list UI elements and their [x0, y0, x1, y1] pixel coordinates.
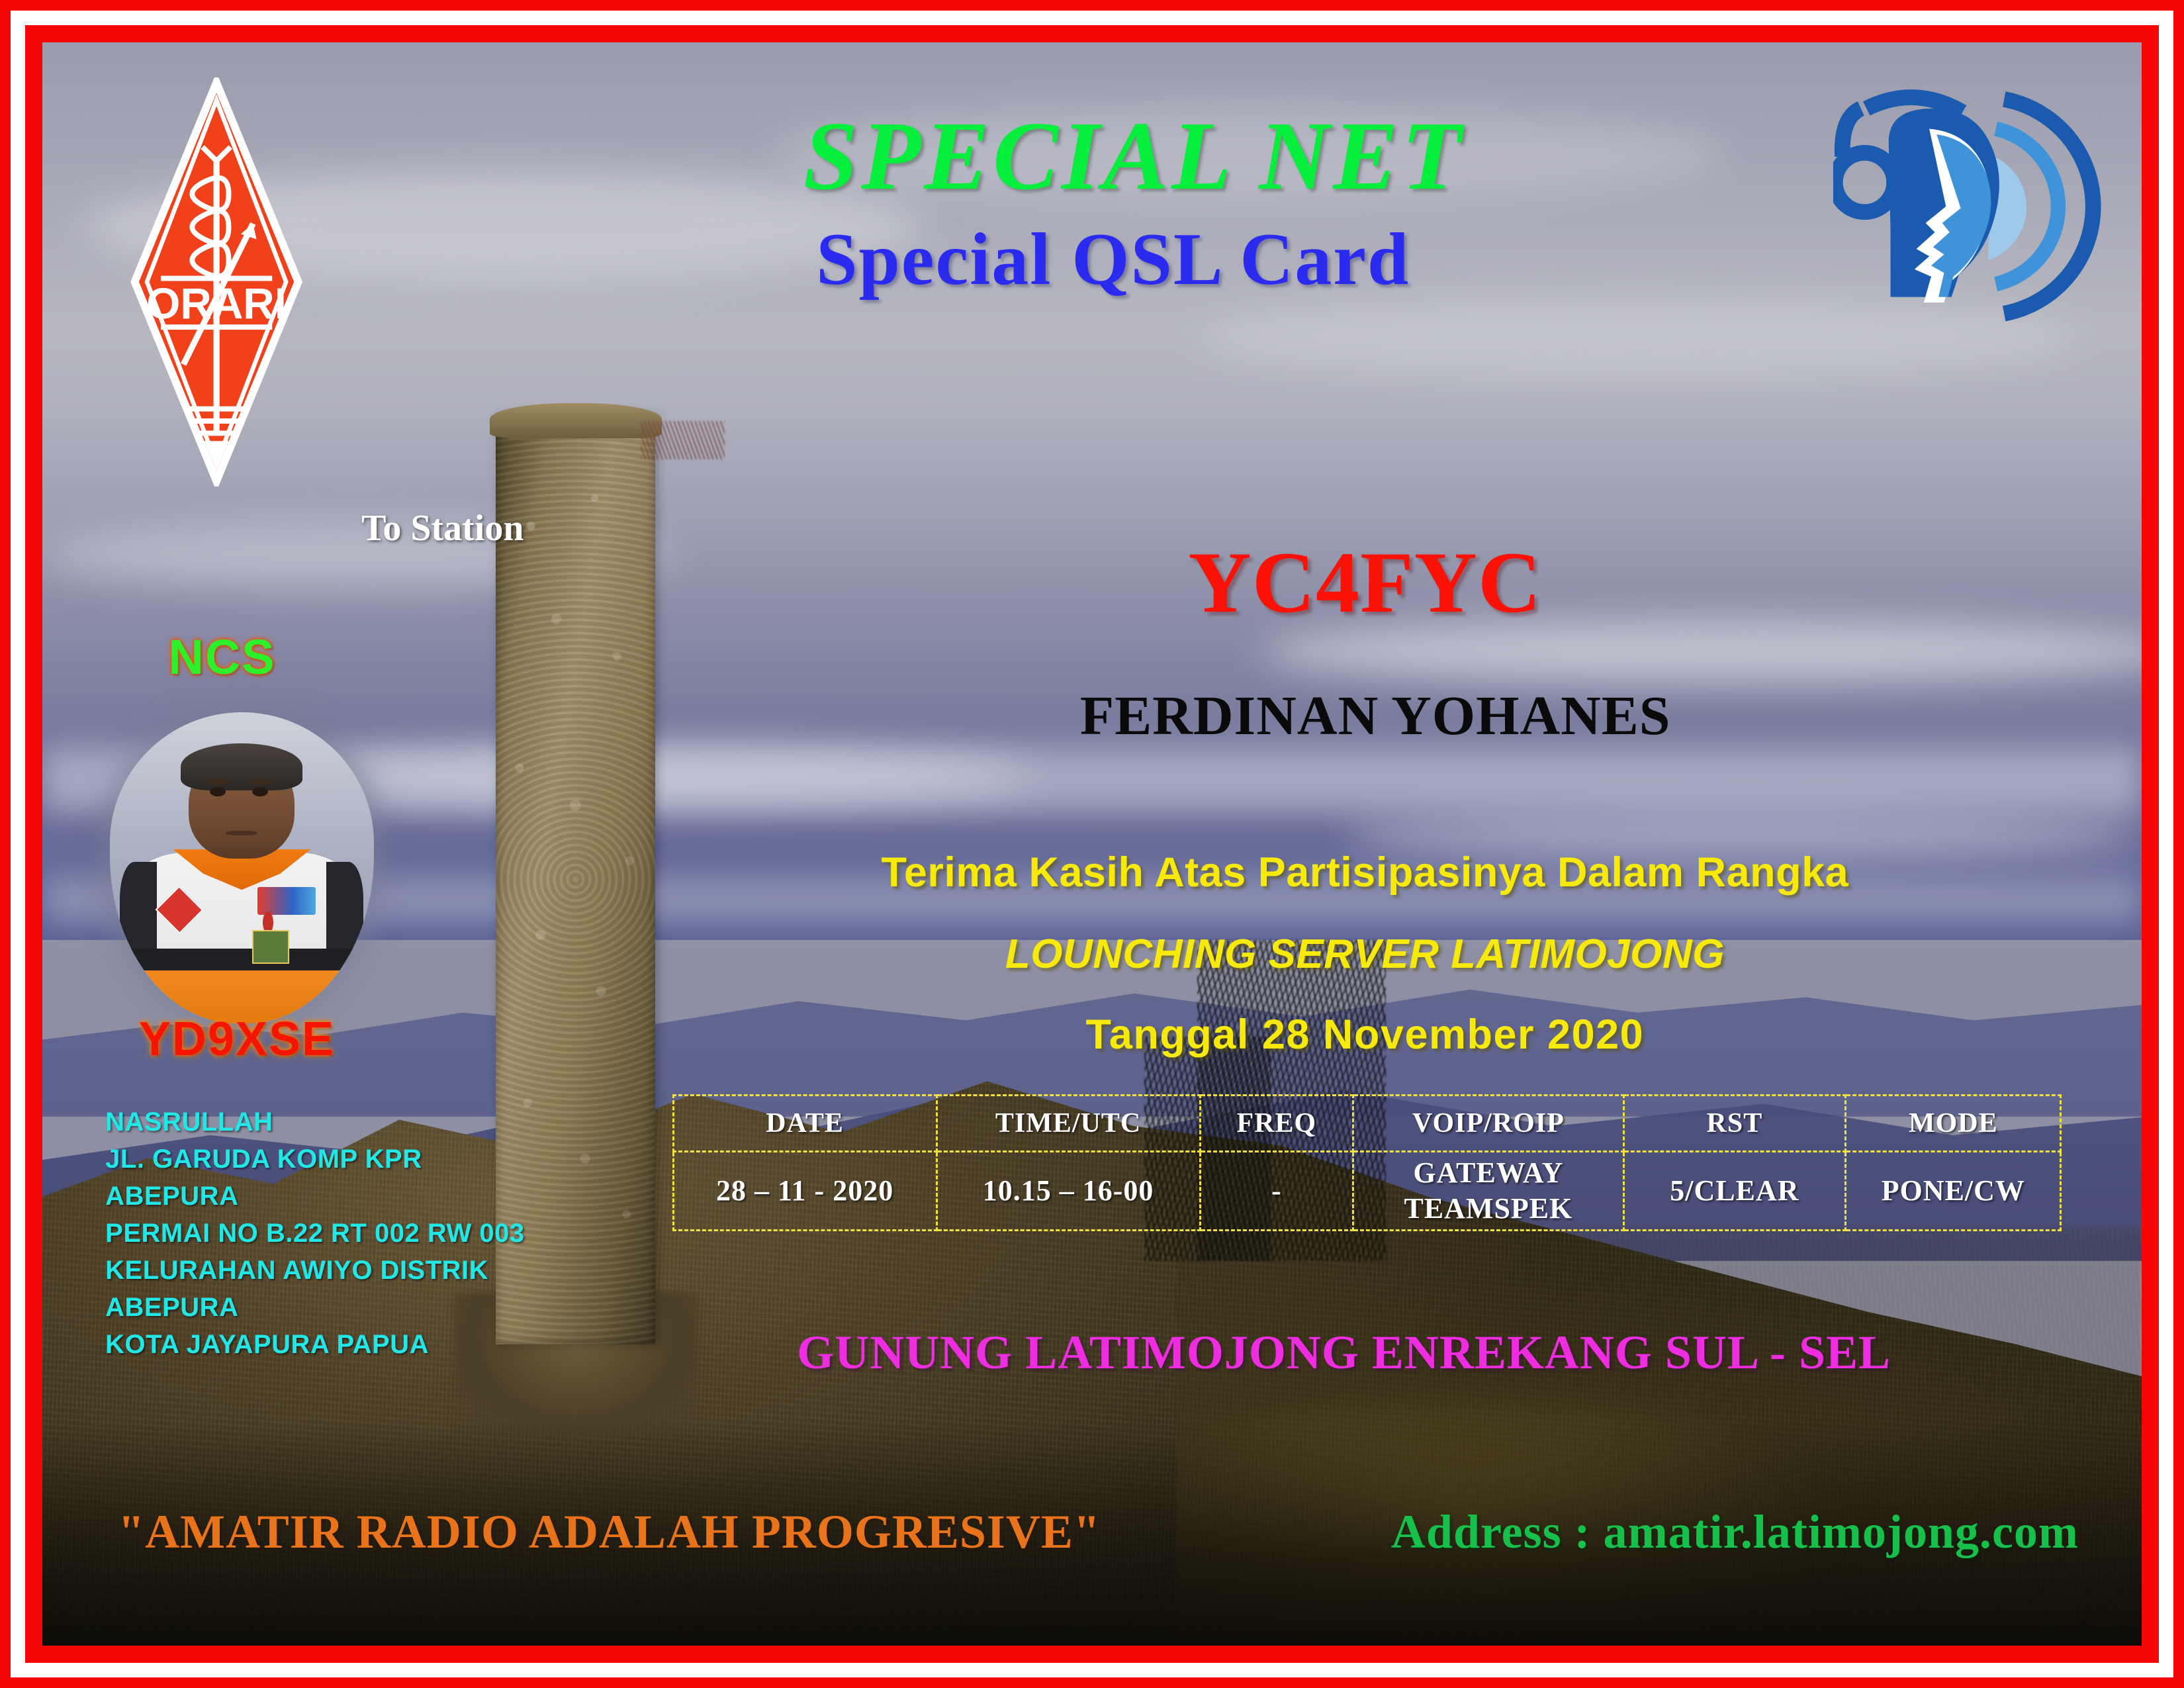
column-header-rst: RST [1623, 1095, 1846, 1151]
cell-time: 10.15 – 16-00 [936, 1151, 1200, 1230]
station-callsign: YC4FYC [42, 532, 2142, 633]
qsl-card-background-photo: ORARI SPECIAL NET Special Q [42, 42, 2142, 1646]
address-line: ABEPURA [105, 1178, 651, 1215]
column-header-date: DATE [673, 1095, 936, 1151]
column-header-mode: MODE [1846, 1095, 2061, 1151]
ncs-label: NCS [168, 629, 275, 685]
event-title-line: LOUNCHING SERVER LATIMOJONG [42, 931, 2142, 978]
footer-slogan: "AMATIR RADIO ADALAH PROGRESIVE" [118, 1505, 1101, 1560]
event-date-line: Tanggal 28 November 2020 [42, 1011, 2142, 1058]
location-line: GUNUNG LATIMOJONG ENREKANG SUL - SEL [42, 1325, 2142, 1380]
column-header-voip: VOIP/ROIP [1353, 1095, 1623, 1151]
footer-address-url: Address : amatir.latimojong.com [1391, 1505, 2079, 1560]
operator-eyebrow-left [206, 779, 230, 784]
operator-mouth [226, 831, 257, 836]
address-line: PERMAI NO B.22 RT 002 RW 003 [105, 1215, 651, 1252]
operator-eyebrow-right [250, 779, 273, 784]
cell-voip: GATEWAY TEAMSPEK [1353, 1151, 1623, 1230]
table-header-row: DATE TIME/UTC FREQ VOIP/ROIP RST MODE [673, 1095, 2061, 1151]
operator-hair [181, 743, 302, 790]
event-thanks-line: Terima Kasih Atas Partisipasinya Dalam R… [42, 849, 2142, 896]
cell-freq: - [1200, 1151, 1353, 1230]
table-row: 28 – 11 - 2020 10.15 – 16-00 - GATEWAY T… [673, 1151, 2061, 1230]
address-line: ABEPURA [105, 1289, 651, 1326]
cell-date: 28 – 11 - 2020 [673, 1151, 936, 1230]
address-line: KELURAHAN AWIYO DISTRIK [105, 1252, 651, 1289]
qso-details-table: DATE TIME/UTC FREQ VOIP/ROIP RST MODE 28… [672, 1094, 2062, 1231]
qsl-card-inner-border: ORARI SPECIAL NET Special Q [25, 25, 2159, 1663]
qsl-card-white-gap: ORARI SPECIAL NET Special Q [11, 11, 2173, 1677]
page-subtitle-qsl-card: Special QSL Card [42, 217, 2142, 303]
address-line: JL. GARUDA KOMP KPR [105, 1141, 651, 1178]
cairn-top-cap [490, 403, 662, 438]
column-header-freq: FREQ [1200, 1095, 1353, 1151]
cell-mode: PONE/CW [1846, 1151, 2061, 1230]
ncs-address-block: NASRULLAH JL. GARUDA KOMP KPR ABEPURA PE… [105, 1103, 651, 1363]
page-title-special-net: SPECIAL NET [42, 100, 2142, 212]
cell-rst: 5/CLEAR [1623, 1151, 1846, 1230]
cairn-grass-tuft [641, 421, 725, 459]
qsl-card-outer-border: ORARI SPECIAL NET Special Q [0, 0, 2184, 1688]
column-header-time: TIME/UTC [936, 1095, 1200, 1151]
address-line: NASRULLAH [105, 1103, 651, 1141]
